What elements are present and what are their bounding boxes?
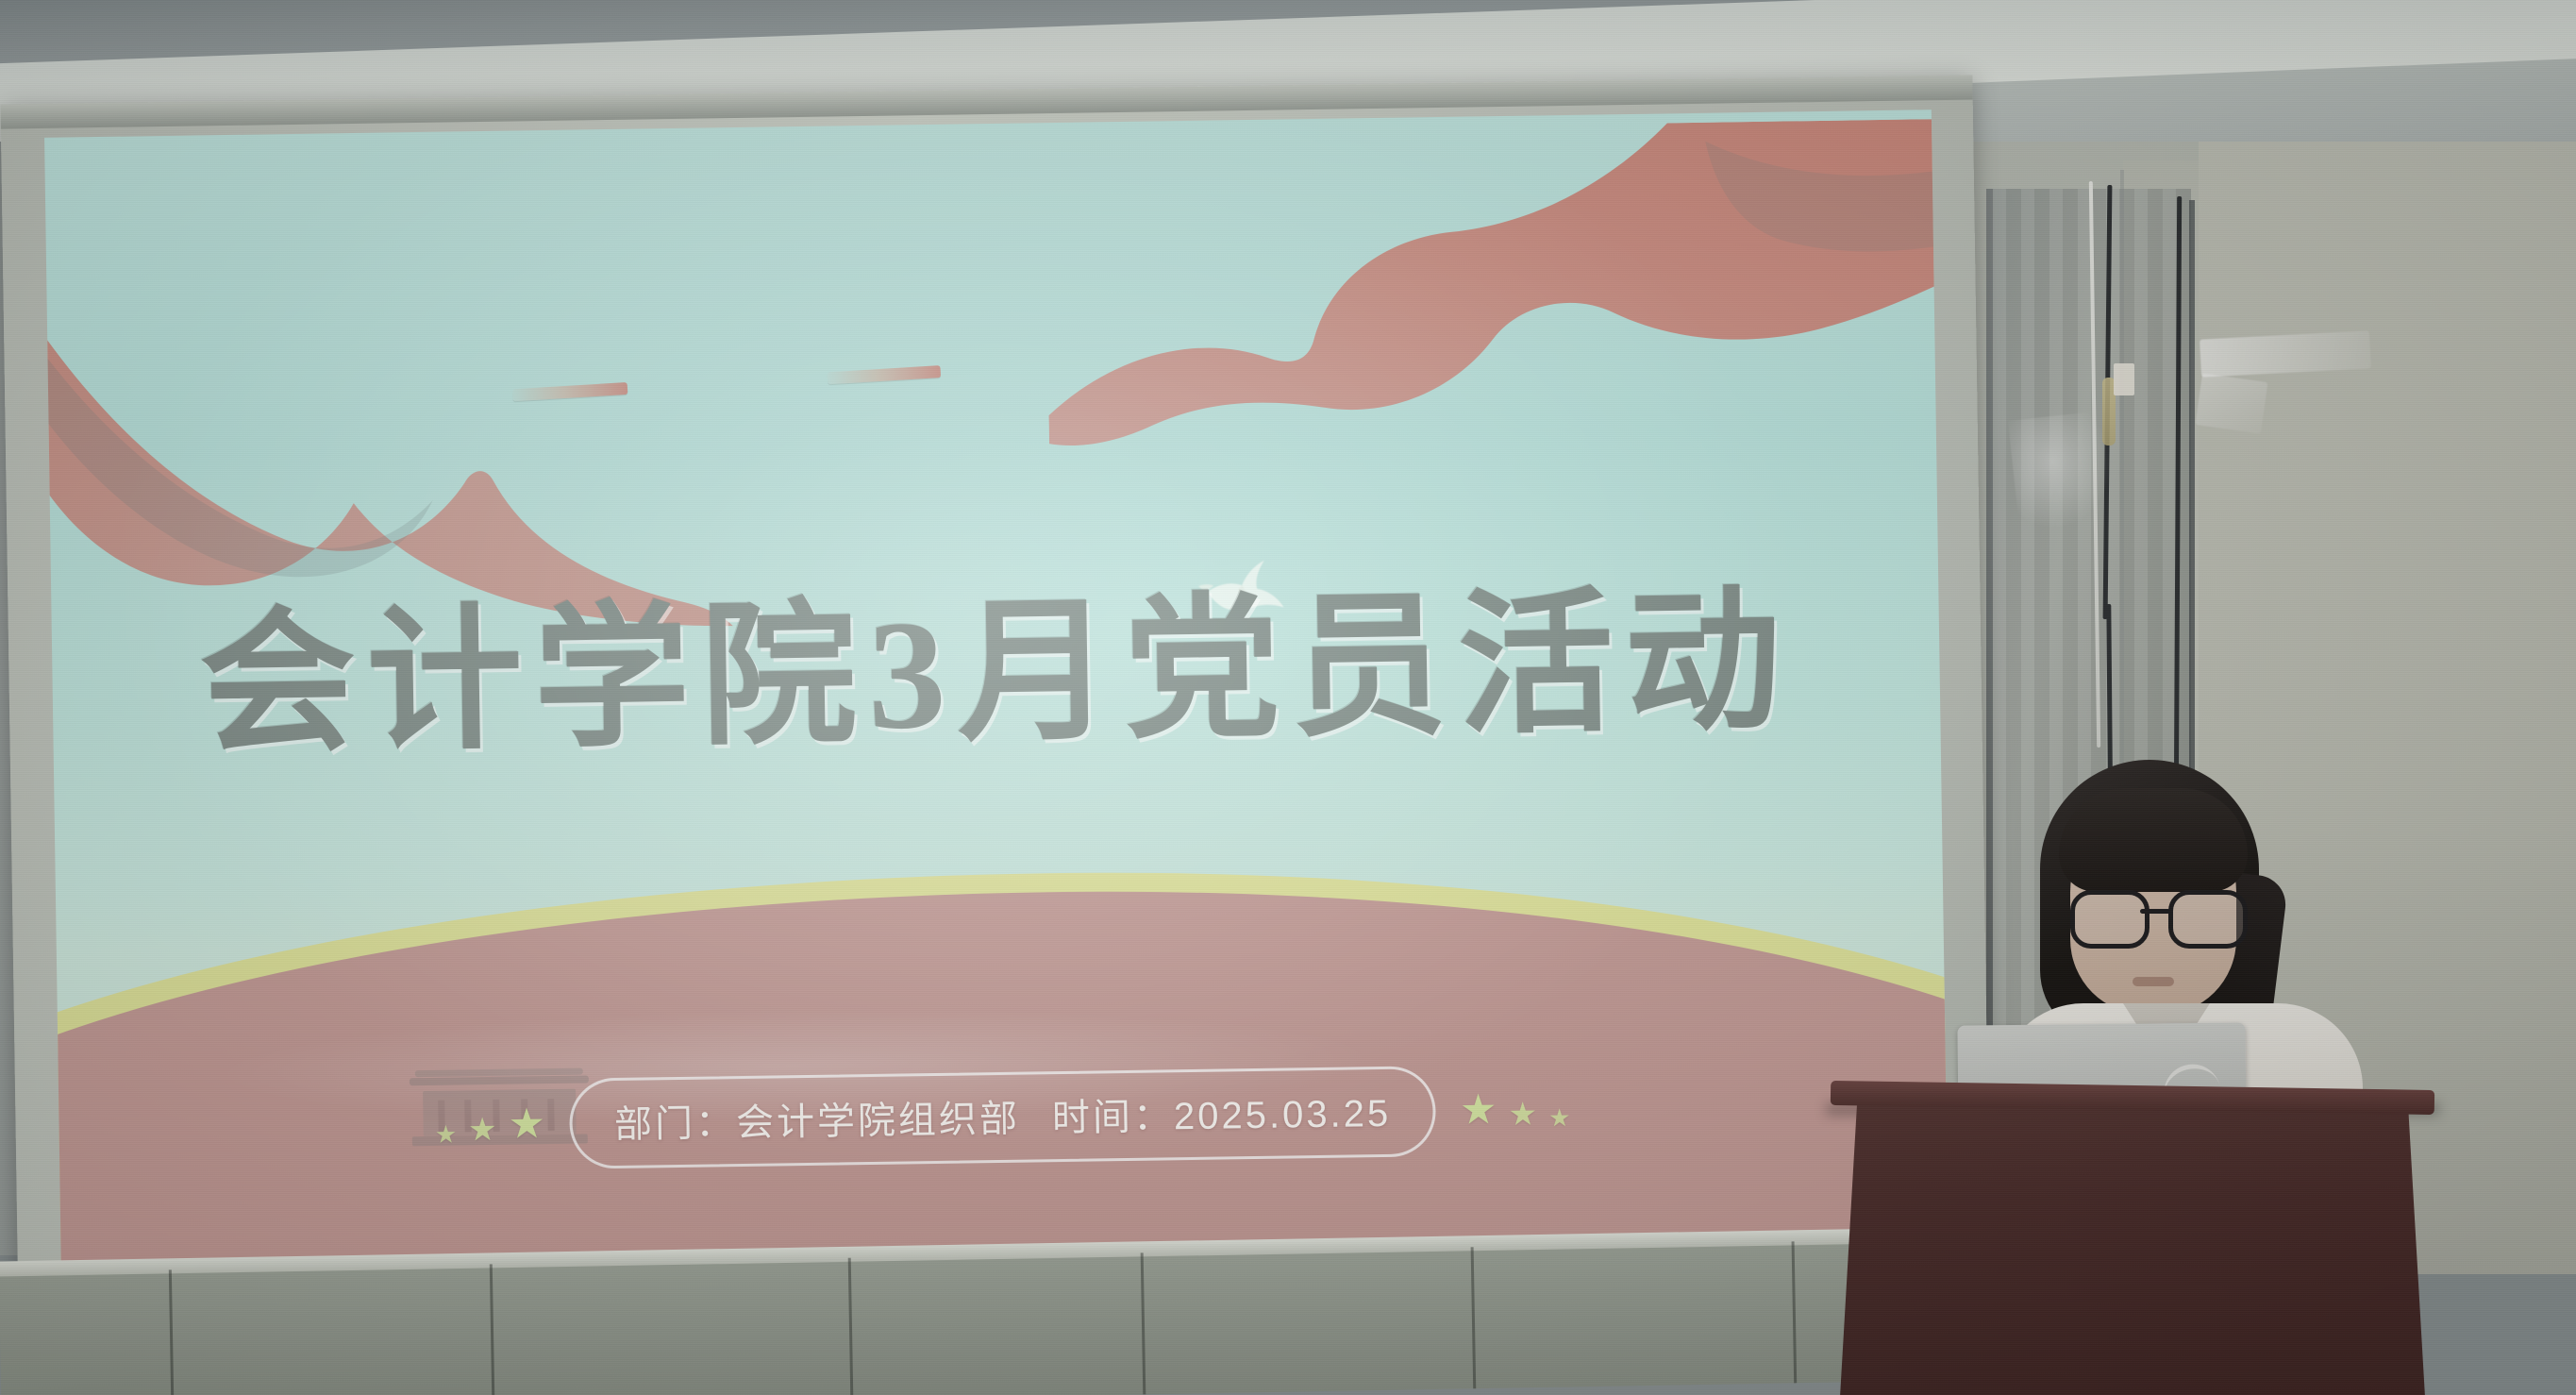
slide-title: 会计学院3月党员活动 [51,581,1940,765]
room-photo-scene: 会计学院3月党员活动 ★ ★ ★ 部门：会计学院组织部 时间：2025.03.2… [0,0,2576,1395]
mouth [2133,977,2174,986]
department-label: 部门：会计学院组织部 [614,1088,1021,1149]
eyeglasses [2070,890,2242,941]
wall-tape-2 [2196,373,2268,433]
accent-dash-right [828,365,942,384]
red-ribbon-right [1045,117,1949,576]
presentation-slide: 会计学院3月党员活动 ★ ★ ★ 部门：会计学院组织部 时间：2025.03.2… [44,109,1949,1275]
cord-tag [2114,363,2134,395]
star-medium-icon: ★ [468,1114,497,1146]
star-small-icon: ★ [1548,1105,1571,1130]
stars-left: ★ ★ ★ [434,1103,545,1147]
star-large-icon: ★ [508,1103,545,1146]
podium [1840,1095,2425,1395]
hair-fringe [2059,788,2248,892]
wall-panels [0,1238,2001,1395]
stars-right: ★ ★ ★ [1460,1088,1571,1132]
star-large-icon: ★ [1460,1089,1497,1132]
star-small-icon: ★ [435,1122,458,1147]
slide-meta-pill: 部门：会计学院组织部 时间：2025.03.25 [569,1066,1436,1169]
projector-screen-frame: 会计学院3月党员活动 ★ ★ ★ 部门：会计学院组织部 时间：2025.03.2… [1,76,1991,1327]
date-label: 时间：2025.03.25 [1051,1083,1391,1142]
star-medium-icon: ★ [1508,1099,1537,1131]
wall-tape-3 [2008,411,2118,533]
